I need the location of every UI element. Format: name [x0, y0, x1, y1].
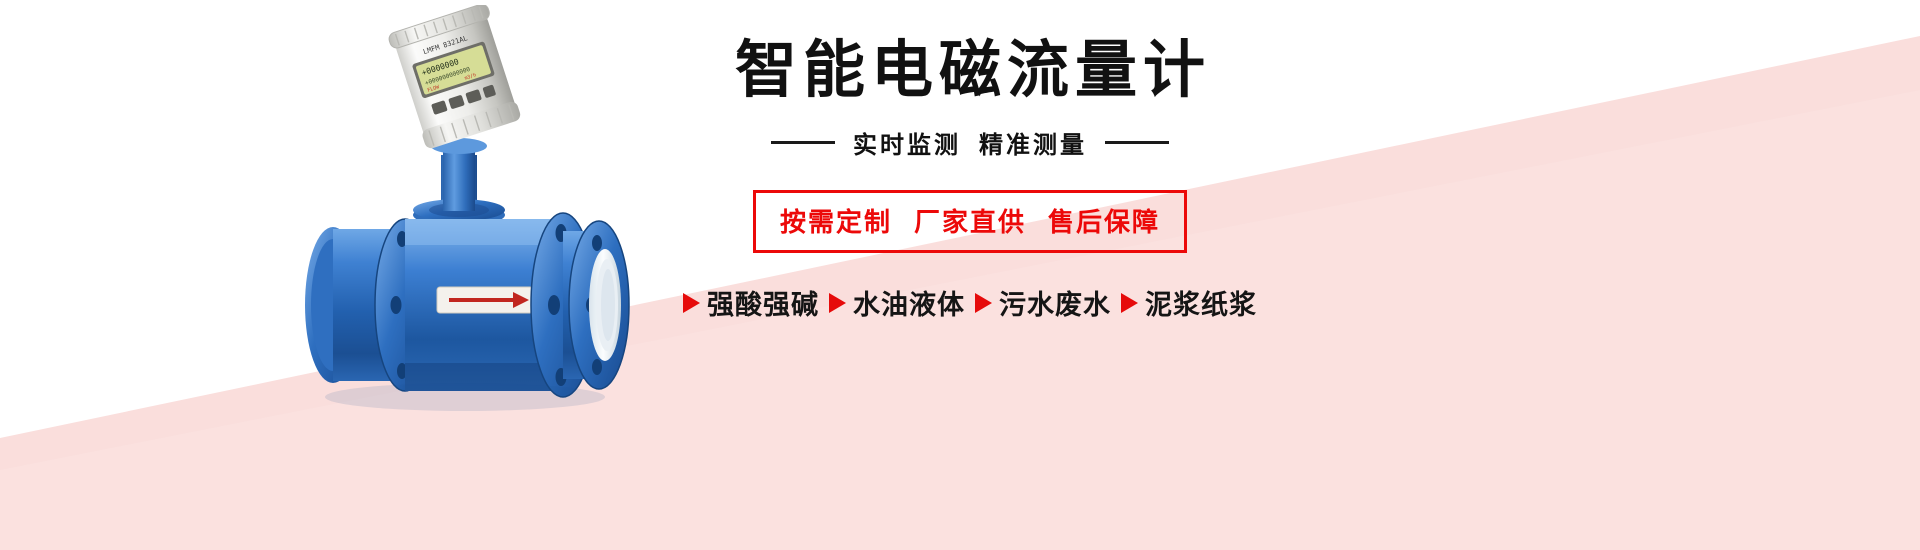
application-label-2: 水油液体 [853, 283, 965, 322]
flow-direction-arrow [437, 287, 533, 313]
application-list: 强酸强碱 水油液体 污水废水 泥浆纸浆 [683, 283, 1257, 322]
subtitle-part-1: 实时监测 [853, 132, 961, 159]
application-label-4: 泥浆纸浆 [1145, 283, 1257, 322]
copy-block: 智能电磁流量计 实时监测精准测量 按需定制厂家直供售后保障 强酸强碱 水油液体 … [600, 38, 1340, 358]
application-label-3: 污水废水 [999, 283, 1111, 322]
rule-right-icon [1105, 141, 1169, 144]
triangle-right-icon [683, 293, 700, 313]
flowmeter-body [305, 213, 629, 411]
promo-item-1: 按需定制 [780, 207, 892, 237]
promo-item-2: 厂家直供 [914, 207, 1026, 237]
converter-head: LMFM 8321AL +0000000 +000000000000 FLOW … [387, 5, 524, 226]
promo-text: 按需定制厂家直供售后保障 [780, 207, 1160, 237]
page-title: 智能电磁流量计 [729, 38, 1211, 103]
triangle-right-icon [829, 293, 846, 313]
promo-item-3: 售后保障 [1048, 207, 1160, 237]
application-item-2: 水油液体 [829, 283, 965, 322]
product-banner: LMFM 8321AL +0000000 +000000000000 FLOW … [0, 0, 1920, 550]
triangle-right-icon [1121, 293, 1138, 313]
subtitle-part-2: 精准测量 [979, 132, 1087, 159]
rule-left-icon [771, 141, 835, 144]
promo-badge: 按需定制厂家直供售后保障 [753, 190, 1187, 253]
application-item-3: 污水废水 [975, 283, 1111, 322]
subtitle-text: 实时监测精准测量 [853, 125, 1087, 160]
triangle-right-icon [975, 293, 992, 313]
subtitle-row: 实时监测精准测量 [771, 125, 1169, 160]
application-item-4: 泥浆纸浆 [1121, 283, 1257, 322]
application-item-1: 强酸强碱 [683, 283, 819, 322]
application-label-1: 强酸强碱 [707, 283, 819, 322]
